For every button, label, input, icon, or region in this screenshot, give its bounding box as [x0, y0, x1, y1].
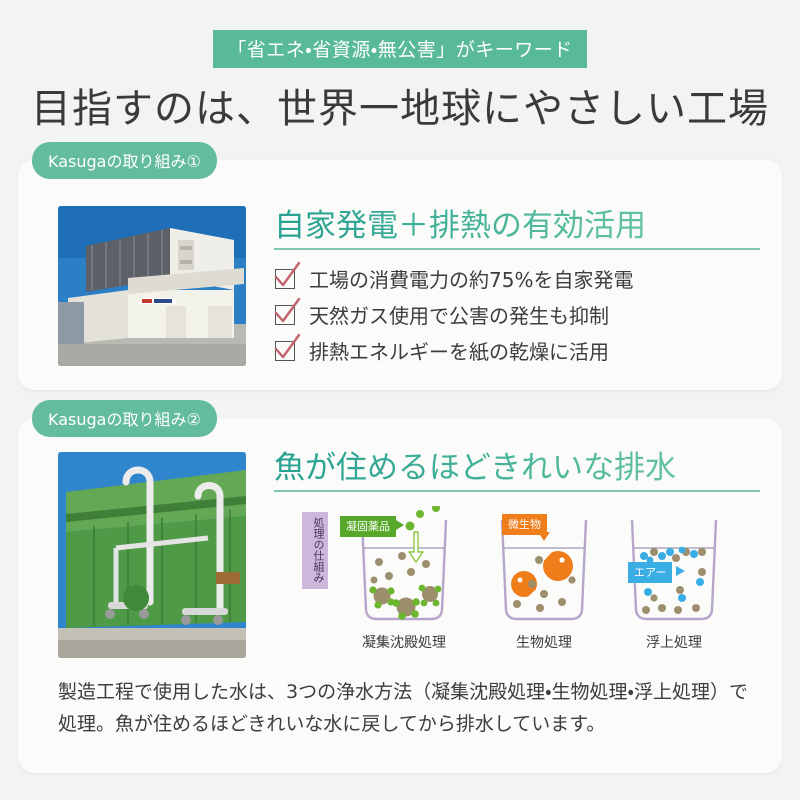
checklist-item: 工場の消費電力の約75%を自家発電	[274, 260, 633, 296]
beaker-caption-1: 凝集沈殿処理	[344, 632, 464, 652]
page-title: 目指すのは、世界一地球にやさしい工場	[0, 76, 800, 134]
checklist-item-label: 天然ガス使用で公害の発生も抑制	[309, 300, 609, 329]
checklist-item-label: 工場の消費電力の約75%を自家発電	[309, 264, 633, 293]
checklist-self-generation: 工場の消費電力の約75%を自家発電 天然ガス使用で公害の発生も抑制	[274, 260, 633, 368]
checklist-item: 天然ガス使用で公害の発生も抑制	[274, 296, 633, 332]
badge-initiative-1: Kasugaの取り組み①	[32, 142, 217, 179]
checklist-item: 排熱エネルギーを紙の乾燥に活用	[274, 332, 633, 368]
tag-air: エアー	[628, 562, 672, 583]
photo-water-treatment-illustration	[58, 452, 246, 658]
beaker-caption-3: 浮上処理	[614, 632, 734, 652]
heading-rule-2	[274, 490, 760, 492]
beaker-flotation-treatment: エアー 浮上処理	[614, 506, 734, 656]
keyword-band-text: 「省エネ・省資源・無公害」がキーワード	[213, 30, 586, 68]
diagram-vertical-label: 処理の仕組み	[302, 512, 328, 589]
checkbox-checked-icon	[274, 266, 298, 290]
card-self-generation: Kasugaの取り組み①	[18, 160, 782, 390]
heading-water-treatment: 魚が住めるほどきれいな排水	[274, 442, 676, 487]
photo-cogeneration-plant	[58, 206, 246, 366]
beaker-biological-treatment: 微生物 生物処理	[484, 506, 604, 656]
tag-coagulant-pointer	[396, 520, 404, 530]
badge-initiative-2: Kasugaの取り組み②	[32, 400, 217, 437]
heading-rule-1	[274, 248, 760, 250]
tag-microorganism-pointer	[538, 532, 550, 541]
card-water-treatment: Kasugaの取り組み②	[18, 418, 782, 773]
photo-water-treatment-tanks	[58, 452, 246, 658]
water-treatment-diagram: 処理の仕組み	[268, 506, 768, 686]
keyword-band: 「省エネ・省資源・無公害」がキーワード	[0, 30, 800, 68]
checkbox-checked-icon	[274, 302, 298, 326]
tag-air-pointer	[676, 566, 685, 576]
beaker-caption-2: 生物処理	[484, 632, 604, 652]
checkbox-checked-icon	[274, 338, 298, 362]
checklist-item-label: 排熱エネルギーを紙の乾燥に活用	[309, 336, 609, 365]
tag-coagulant: 凝固薬品	[340, 516, 396, 537]
beaker-coagulation-sedimentation: 凝固薬品 凝集沈殿処理	[344, 506, 464, 656]
water-treatment-description: 製造工程で使用した水は、3つの浄水方法（凝集沈殿処理・生物処理・浮上処理）で処理…	[58, 676, 748, 740]
heading-self-generation: 自家発電＋排熱の有効活用	[274, 200, 646, 245]
photo-cogeneration-illustration	[58, 206, 246, 366]
infographic-page: 「省エネ・省資源・無公害」がキーワード 目指すのは、世界一地球にやさしい工場 K…	[0, 0, 800, 800]
